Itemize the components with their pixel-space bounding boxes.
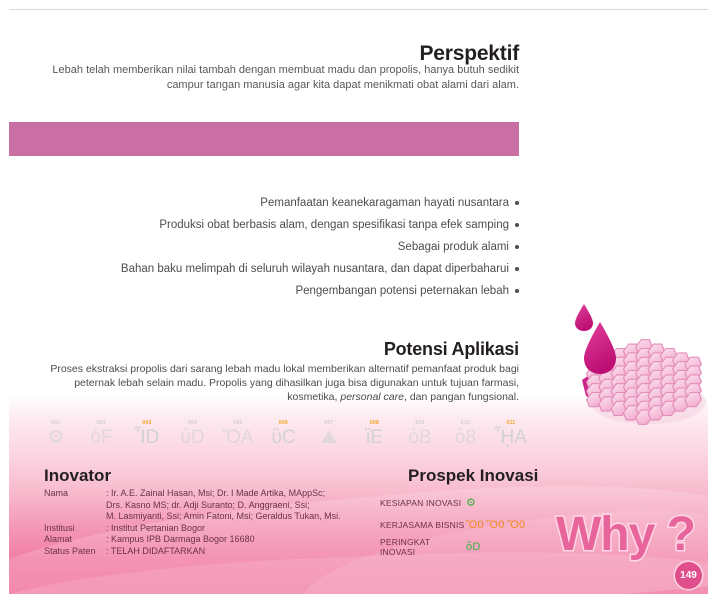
- sector-laboratorium-icon: 006ὒC: [264, 420, 304, 449]
- page-frame-left: [0, 0, 9, 600]
- keunggulan-item-label: Pengembangan potensi peternakan lebah: [295, 285, 509, 297]
- prospek-row-rating: Ὃ0Ὃ0Ὃ0: [466, 520, 525, 531]
- prospek-row: PERINGKAT INOVASIὄD: [380, 536, 525, 558]
- sector-pertambangan-icon: 007⛰: [309, 420, 349, 449]
- sector-icon-number: 001: [36, 420, 76, 426]
- prospek-row-rating: ⚙: [466, 498, 476, 509]
- sector-icon-number: 011: [491, 420, 531, 426]
- money-bag-icon: Ὃ0: [466, 520, 484, 531]
- bullet-dot-icon: [515, 201, 519, 205]
- potensi-text-part-2: , dan pangan fungsional.: [404, 391, 519, 403]
- inovator-row: Status Paten: TELAH DIDAFTARKAN: [44, 546, 341, 558]
- bullet-dot-icon: [515, 245, 519, 249]
- perikanan-icon: ὁF: [82, 427, 122, 449]
- potensi-aplikasi-heading: Potensi Aplikasi: [384, 339, 519, 360]
- laboratorium-icon: ὒC: [264, 427, 304, 449]
- inovator-row-key: Nama: [44, 488, 106, 523]
- page-frame-top: [0, 0, 717, 9]
- potensi-aplikasi-paragraph: Proses ekstraksi propolis dari sarang le…: [35, 362, 519, 404]
- inovator-heading: Inovator: [44, 466, 111, 486]
- prospek-row: KESIAPAN INOVASI⚙: [380, 492, 525, 514]
- page-number-badge: 149: [675, 562, 702, 589]
- keunggulan-item: Bahan baku melimpah di seluruh wilayah n…: [49, 258, 519, 280]
- farmasi-icon: ᾞA: [491, 427, 531, 449]
- statistik-icon: ὌA: [218, 427, 258, 449]
- pertanian-icon: ⚙: [36, 427, 76, 449]
- page-frame-right: [708, 0, 717, 600]
- prospek-row-label: KERJASAMA BISNIS: [380, 520, 466, 530]
- sector-icon-strip: 001⚙002ὁF003ἾD004ὐD005ὌA006ὒC007⛰008ἳE00…: [36, 403, 531, 449]
- page-canvas: Perspektif Lebah telah memberikan nilai …: [0, 0, 717, 600]
- industri-icon: ἾD: [127, 427, 167, 449]
- bullet-dot-icon: [515, 289, 519, 293]
- prospek-inovasi-heading: Prospek Inovasi: [408, 466, 538, 486]
- sector-icon-number: 002: [82, 420, 122, 426]
- inovator-row-value: : Institut Pertanian Bogor: [106, 523, 205, 535]
- keunggulan-item: Sebagai produk alami: [49, 236, 519, 258]
- keunggulan-item-label: Produksi obat berbasis alam, dengan spes…: [159, 219, 509, 231]
- top-hairline-rule: [9, 9, 708, 10]
- gear-green-icon: ⚙: [466, 498, 476, 509]
- inovator-row-value: : TELAH DIDAFTARKAN: [106, 546, 205, 558]
- prospek-row-label: PERINGKAT INOVASI: [380, 537, 466, 557]
- pertambangan-icon: ⛰: [309, 427, 349, 449]
- inovator-row-value: : Kampus IPB Darmaga Bogor 16680: [106, 534, 255, 546]
- sector-farmasi-icon: 011ᾞA: [491, 420, 531, 449]
- potensi-text-italic: personal care: [340, 391, 404, 403]
- page-frame-bottom: [0, 594, 717, 600]
- money-bag-icon: Ὃ0: [508, 520, 526, 531]
- thumbs-up-green-icon: ὄD: [466, 542, 480, 553]
- sector-pangan-icon: 008ἳE: [355, 420, 395, 449]
- sector-statistik-icon: 005ὌA: [218, 420, 258, 449]
- inovator-row: Institusi: Institut Pertanian Bogor: [44, 523, 341, 535]
- inovator-row-key: Alamat: [44, 534, 106, 546]
- sector-icon-number: 004: [173, 420, 213, 426]
- sector-icon-number: 010: [446, 420, 486, 426]
- sector-riset-icon: 004ὐD: [173, 420, 213, 449]
- keunggulan-list: Pemanfaatan keanekaragaman hayati nusant…: [49, 192, 519, 302]
- bullet-dot-icon: [515, 223, 519, 227]
- bullet-dot-icon: [515, 267, 519, 271]
- prospek-row: KERJASAMA BISNISὋ0Ὃ0Ὃ0: [380, 514, 525, 536]
- inovator-row-value: : Ir. A.E. Zainal Hasan, Msi; Dr. I Made…: [106, 488, 341, 523]
- honeycomb-illustration: [556, 292, 714, 457]
- sector-icon-number: 003: [127, 420, 167, 426]
- pangan-icon: ἳE: [355, 427, 395, 449]
- sector-perikanan-icon: 002ὁF: [82, 420, 122, 449]
- sector-icon-number: 008: [355, 420, 395, 426]
- keunggulan-item-label: Sebagai produk alami: [398, 241, 509, 253]
- sector-icon-number: 009: [400, 420, 440, 426]
- sector-icon-number: 007: [309, 420, 349, 426]
- inovator-row: Nama: Ir. A.E. Zainal Hasan, Msi; Dr. I …: [44, 488, 341, 523]
- peternakan-icon: ὁ8: [446, 427, 486, 449]
- prospek-row-rating: ὄD: [466, 542, 480, 553]
- kelautan-icon: ὀB: [400, 427, 440, 449]
- keunggulan-item: Pengembangan potensi peternakan lebah: [49, 280, 519, 302]
- money-bag-icon: Ὃ0: [487, 520, 505, 531]
- sector-kelautan-icon: 009ὀB: [400, 420, 440, 449]
- why-watermark: Why ?: [556, 505, 706, 567]
- keunggulan-inovasi-heading: Keunggulan Inovasi: [207, 129, 707, 151]
- keunggulan-item-label: Pemanfaatan keanekaragaman hayati nusant…: [260, 197, 509, 209]
- sector-peternakan-icon: 010ὁ8: [446, 420, 486, 449]
- sector-industri-icon: 003ἾD: [127, 420, 167, 449]
- keunggulan-item: Pemanfaatan keanekaragaman hayati nusant…: [49, 192, 519, 214]
- inovator-row: Alamat: Kampus IPB Darmaga Bogor 16680: [44, 534, 341, 546]
- inovator-row-key: Status Paten: [44, 546, 106, 558]
- inovator-details: Nama: Ir. A.E. Zainal Hasan, Msi; Dr. I …: [44, 488, 341, 558]
- prospek-row-label: KESIAPAN INOVASI: [380, 498, 466, 508]
- prospek-inovasi-list: KESIAPAN INOVASI⚙KERJASAMA BISNISὋ0Ὃ0Ὃ0P…: [380, 492, 525, 558]
- keunggulan-item: Produksi obat berbasis alam, dengan spes…: [49, 214, 519, 236]
- inovator-row-key: Institusi: [44, 523, 106, 535]
- sector-icon-number: 005: [218, 420, 258, 426]
- sector-icon-number: 006: [264, 420, 304, 426]
- perspektif-paragraph: Lebah telah memberikan nilai tambah deng…: [39, 63, 519, 93]
- riset-icon: ὐD: [173, 427, 213, 449]
- keunggulan-item-label: Bahan baku melimpah di seluruh wilayah n…: [121, 263, 509, 275]
- sector-pertanian-icon: 001⚙: [36, 420, 76, 449]
